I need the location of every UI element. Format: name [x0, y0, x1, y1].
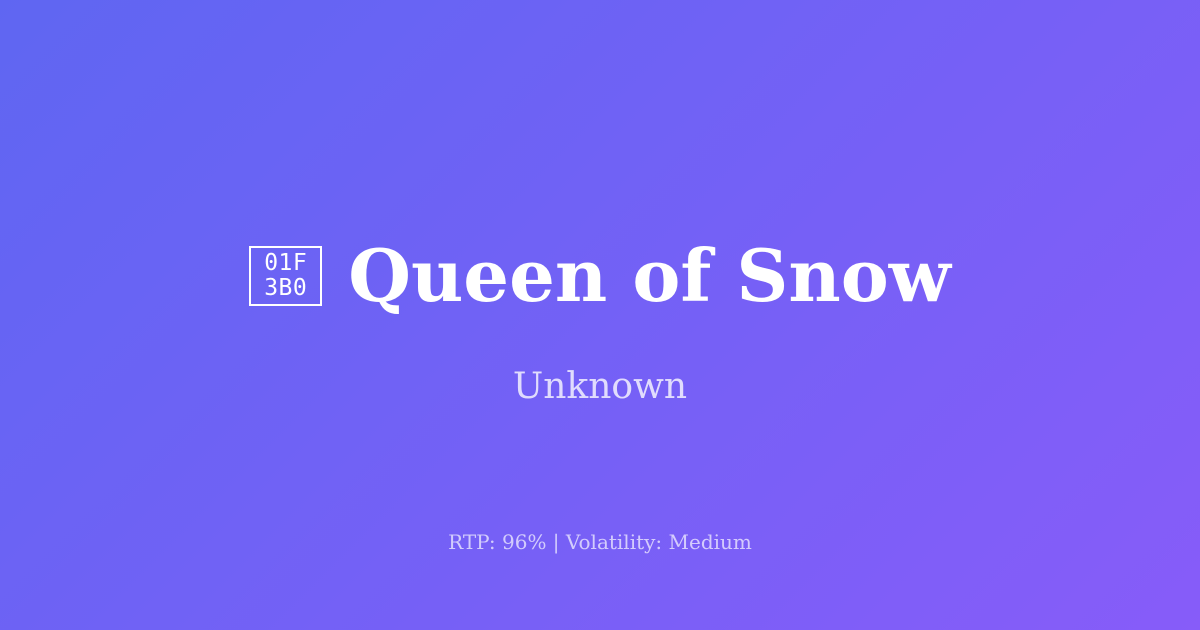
title-row: 01F 3B0 Queen of Snow [0, 235, 1200, 317]
page-title: Queen of Snow [348, 236, 951, 316]
tofu-codepoint-lower: 3B0 [264, 276, 307, 301]
provider-label: Unknown [0, 365, 1200, 409]
tofu-codepoint-upper: 01F [264, 251, 307, 276]
game-stats-line: RTP: 96% | Volatility: Medium [0, 529, 1200, 555]
slot-machine-icon: 01F 3B0 [249, 246, 322, 306]
game-og-card: 01F 3B0 Queen of Snow Unknown RTP: 96% |… [0, 0, 1200, 630]
